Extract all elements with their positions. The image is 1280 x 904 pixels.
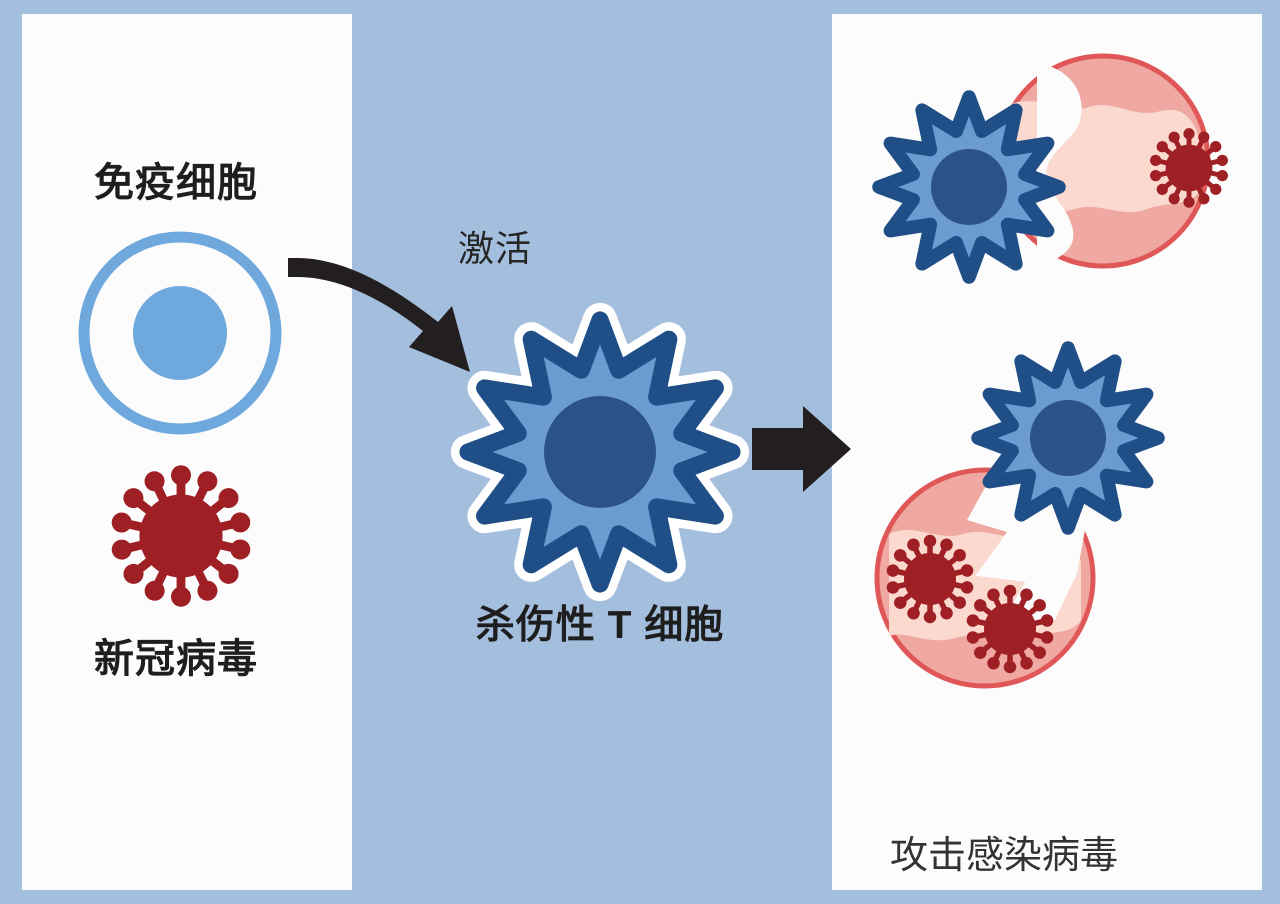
killer-t-cell-icon: [468, 320, 732, 584]
coronavirus-icon: [110, 465, 253, 607]
right-arrow-icon: [752, 406, 851, 492]
immune-cell-icon: [84, 237, 276, 429]
diagram-canvas: 免疫细胞 新冠病毒 激活 杀伤性 T 细胞 攻击感染病毒 的细胞: [0, 0, 1280, 904]
label-attack-infected-cells: 攻击感染病毒 的细胞: [890, 722, 1230, 904]
killer-t-cell-icon-bottom: [978, 348, 1158, 528]
label-activate: 激活: [390, 226, 600, 272]
label-virus: 新冠病毒: [0, 634, 352, 685]
label-immune-cell: 免疫细胞: [0, 158, 352, 209]
label-attack-line-1: 攻击感染病毒: [890, 830, 1230, 884]
label-killer-t-cell: 杀伤性 T 细胞: [440, 601, 760, 651]
curved-arrow-icon: [288, 258, 470, 372]
